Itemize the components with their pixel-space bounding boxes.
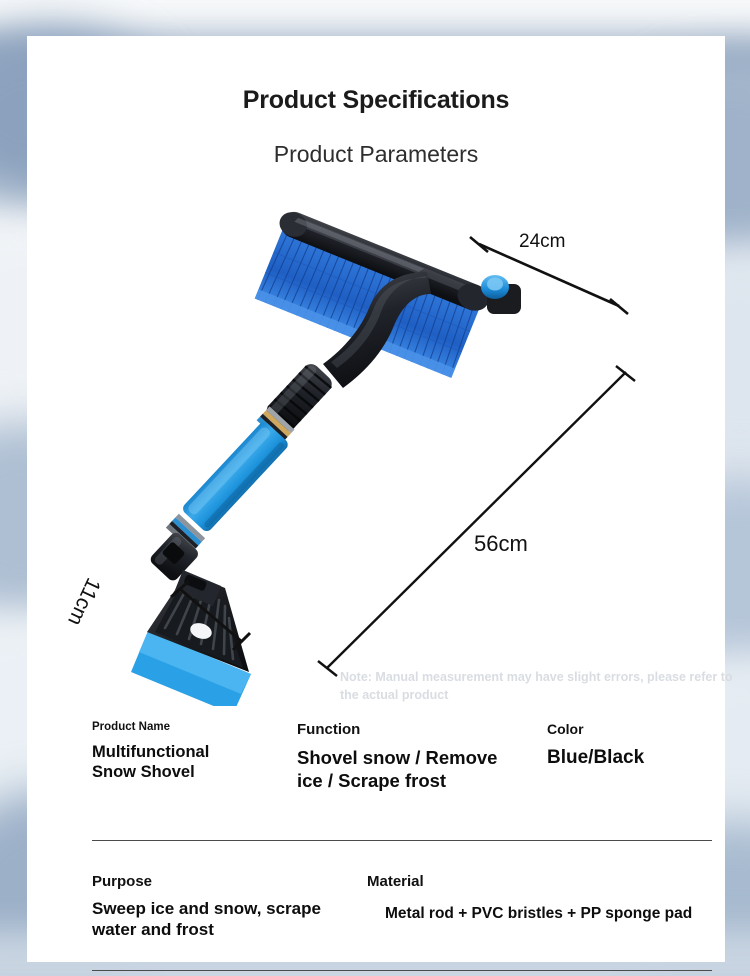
spec-value-product-name: Multifunctional Snow Shovel	[92, 742, 292, 782]
spec-cell-purpose: Purpose Sweep ice and snow, scrape water…	[92, 873, 367, 940]
spec-label-purpose: Purpose	[92, 873, 367, 890]
spec-cell-color: Color Blue/Black	[547, 721, 712, 769]
dimension-label-width-top: 24cm	[519, 231, 565, 253]
product-illustration	[27, 176, 725, 706]
spec-cell-material: Material Metal rod + PVC bristles + PP s…	[367, 873, 712, 924]
specification-table: Product Name Multifunctional Snow Shovel…	[92, 721, 712, 971]
spec-cell-function: Function Shovel snow / Remove ice / Scra…	[297, 721, 537, 792]
page-title: Product Specifications	[27, 86, 725, 115]
product-specification-page: Product Specifications Product Parameter…	[0, 0, 750, 976]
spec-label-product-name: Product Name	[92, 721, 292, 733]
spec-value-color: Blue/Black	[547, 746, 712, 769]
spec-cell-product-name: Product Name Multifunctional Snow Shovel	[92, 721, 292, 782]
snow-shovel-drawing	[27, 176, 725, 706]
page-subtitle: Product Parameters	[27, 141, 725, 168]
spec-value-function: Shovel snow / Remove ice / Scrape frost	[297, 747, 537, 792]
spec-label-color: Color	[547, 721, 712, 737]
spec-divider-2	[92, 970, 712, 971]
dimension-label-length: 56cm	[474, 531, 528, 557]
dimension-line-56cm	[318, 366, 635, 676]
spec-value-purpose: Sweep ice and snow, scrape water and fro…	[92, 899, 367, 940]
measurement-note: Note: Manual measurement may have slight…	[340, 668, 750, 704]
spec-row-2: Purpose Sweep ice and snow, scrape water…	[92, 841, 712, 971]
specification-card: Product Specifications Product Parameter…	[27, 36, 725, 962]
spec-label-function: Function	[297, 721, 537, 738]
spec-row-1: Product Name Multifunctional Snow Shovel…	[92, 721, 712, 841]
spec-value-material: Metal rod + PVC bristles + PP sponge pad	[367, 899, 712, 924]
spec-label-material: Material	[367, 873, 712, 890]
